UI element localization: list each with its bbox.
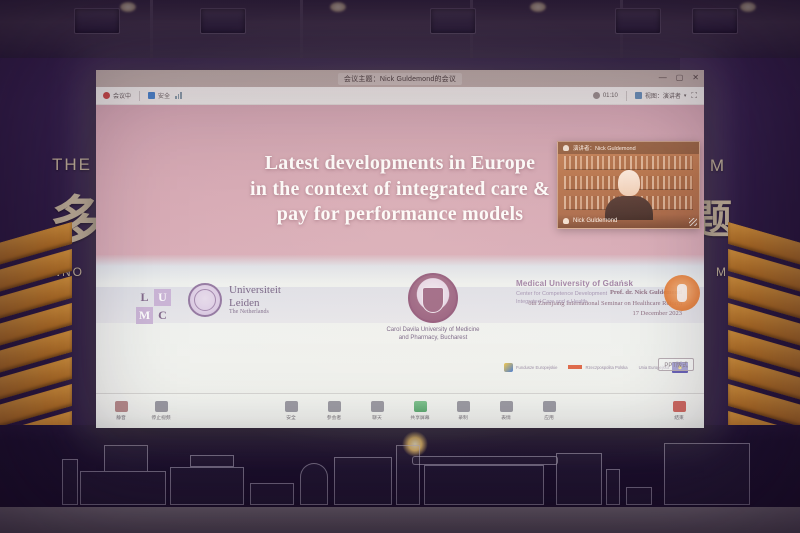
gdansk-seal-icon [664,275,700,311]
slide-layout-badge: PPT版式 [658,358,694,371]
logo-medical-university-gdansk: Medical University of Gdańsk Center for … [516,279,686,307]
ceiling-light [120,2,136,12]
meeting-info-chip[interactable]: 会议中 [103,91,131,100]
fundusze-mark-icon [504,363,513,372]
stop-video-button[interactable]: 停止视频 [146,401,176,421]
end-meeting-label: 结束 [674,414,684,421]
ceiling-light [740,2,756,12]
end-meeting-button[interactable]: 结束 [664,401,694,421]
security-chip[interactable]: 安全 [148,91,170,100]
microphone-icon [563,145,569,151]
ceiling [0,0,800,64]
slide-logo-strip: L U M C Universiteit Leiden The Netherla… [96,271,704,375]
security-label: 安全 [286,414,296,421]
record-icon [593,92,600,99]
leiden-line-1: Universiteit [229,284,281,297]
leiden-seal-icon [188,283,222,317]
participants-button[interactable]: 参会者 [319,401,349,421]
microphone-icon [563,218,569,224]
pip-header: 演讲者：Nick Guldemond [558,142,699,154]
carol-davila-seal-icon [408,273,458,323]
lumc-letter-m: M [136,307,153,324]
ceiling-light [330,2,346,12]
gdansk-sub-2: Integrated Care and e Health [516,298,686,306]
minimize-button[interactable]: — [659,73,667,83]
wall-text-the: THE [52,155,92,175]
view-switch-label: 视图：演讲者 [645,91,681,100]
record-icon [457,401,470,412]
meeting-control-bar: 静音 停止视频 安全 参会者 聊天 [96,393,704,428]
reactions-button[interactable]: 表情 [491,401,521,421]
share-screen-icon [414,401,427,412]
fundusze-label: Fundusze Europejskie [516,365,557,370]
record-button[interactable]: 录制 [448,401,478,421]
conference-room-photo: THE 多 INNO M 题 M [0,0,800,533]
security-button[interactable]: 安全 [276,401,306,421]
pip-resize-handle[interactable] [689,218,697,226]
stop-video-label: 停止视频 [151,414,170,421]
apps-button[interactable]: 应用 [534,401,564,421]
record-label: 录制 [458,414,468,421]
logo-universiteit-leiden: Universiteit Leiden The Netherlands [188,283,281,317]
carol-line-2: and Pharmacy, Bucharest [358,334,508,342]
lumc-letter-l: L [136,289,153,306]
leiden-line-3: The Netherlands [229,309,281,316]
window-title: 会议主题：Nick Guldemond的会议 [338,73,462,85]
ceiling-vent [692,8,738,34]
share-screen-button[interactable]: 共享屏幕 [405,401,435,421]
pip-name-bar: Nick Guldemond [558,214,699,228]
shield-icon [285,401,298,412]
shield-icon [148,92,155,99]
logo-rzeczpospolita-polska: Rzeczpospolita Polska [568,365,627,370]
window-titlebar: 会议主题：Nick Guldemond的会议 — ▢ ✕ [96,70,704,87]
presentation-slide: Latest developments in Europe in the con… [96,105,704,393]
people-icon [328,401,341,412]
chat-bubble-icon [371,401,384,412]
pip-name-label: Nick Guldemond [573,218,617,224]
skyline-mural [0,441,800,533]
ceiling-vent [615,8,661,34]
logo-carol-davila: Carol Davila University of Medicine and … [358,273,508,342]
pip-video-feed [558,154,699,216]
window-controls: — ▢ ✕ [659,73,699,83]
speaker-head [618,170,640,196]
microphone-icon [115,401,128,412]
gdansk-title: Medical University of Gdańsk [516,279,686,288]
meeting-toolbar: 会议中 安全 01:10 [96,87,704,105]
fullscreen-icon[interactable]: ⛶ [691,91,697,101]
participants-label: 参会者 [327,414,341,421]
carol-line-1: Carol Davila University of Medicine [358,326,508,334]
ceiling-vent [200,8,246,34]
gdansk-sub-1: Center for Competence Development [516,290,686,298]
view-switch-chip[interactable]: 视图：演讲者 ▾ [635,91,687,100]
lumc-letter-c: C [154,307,171,324]
toolbar-divider [139,91,140,101]
recording-timer-label: 01:10 [603,93,618,99]
wall-text-right-1: M [710,156,726,176]
end-call-icon [673,401,686,412]
reactions-label: 表情 [501,414,511,421]
speaker-video-thumbnail[interactable]: 演讲者：Nick Guldemond Nick Guldemond [557,141,700,229]
ceiling-light [530,2,546,12]
polska-label: Rzeczpospolita Polska [585,365,627,370]
wall-text-right-2: M [716,265,728,279]
logo-lumc: L U M C [136,289,171,324]
layout-icon [635,92,642,99]
leiden-line-2: Leiden [229,297,281,310]
chat-label: 聊天 [372,414,382,421]
grid-apps-icon [543,401,556,412]
security-label: 安全 [158,91,170,100]
logo-fundusze-europejskie: Fundusze Europejskie [504,363,557,372]
ceiling-vent [430,8,476,34]
chat-button[interactable]: 聊天 [362,401,392,421]
projection-screen: 会议主题：Nick Guldemond的会议 — ▢ ✕ 会议中 安全 [96,70,704,428]
maximize-button[interactable]: ▢ [676,73,684,83]
share-screen-label: 共享屏幕 [410,414,429,421]
signal-bars-icon [175,92,182,99]
camera-icon [155,401,168,412]
mute-label: 静音 [116,414,126,421]
pip-header-label: 演讲者：Nick Guldemond [573,144,636,152]
meeting-info-label: 会议中 [113,91,131,100]
info-icon [103,92,110,99]
lumc-letter-u: U [154,289,171,306]
mute-button[interactable]: 静音 [106,401,136,421]
network-quality-chip[interactable] [175,92,182,99]
recording-timer-chip: 01:10 [593,92,618,99]
ceiling-vent [74,8,120,34]
polska-mark-icon [568,365,582,369]
toolbar-divider [626,91,627,101]
close-button[interactable]: ✕ [692,73,699,83]
apps-label: 应用 [544,414,554,421]
emoji-icon [500,401,513,412]
